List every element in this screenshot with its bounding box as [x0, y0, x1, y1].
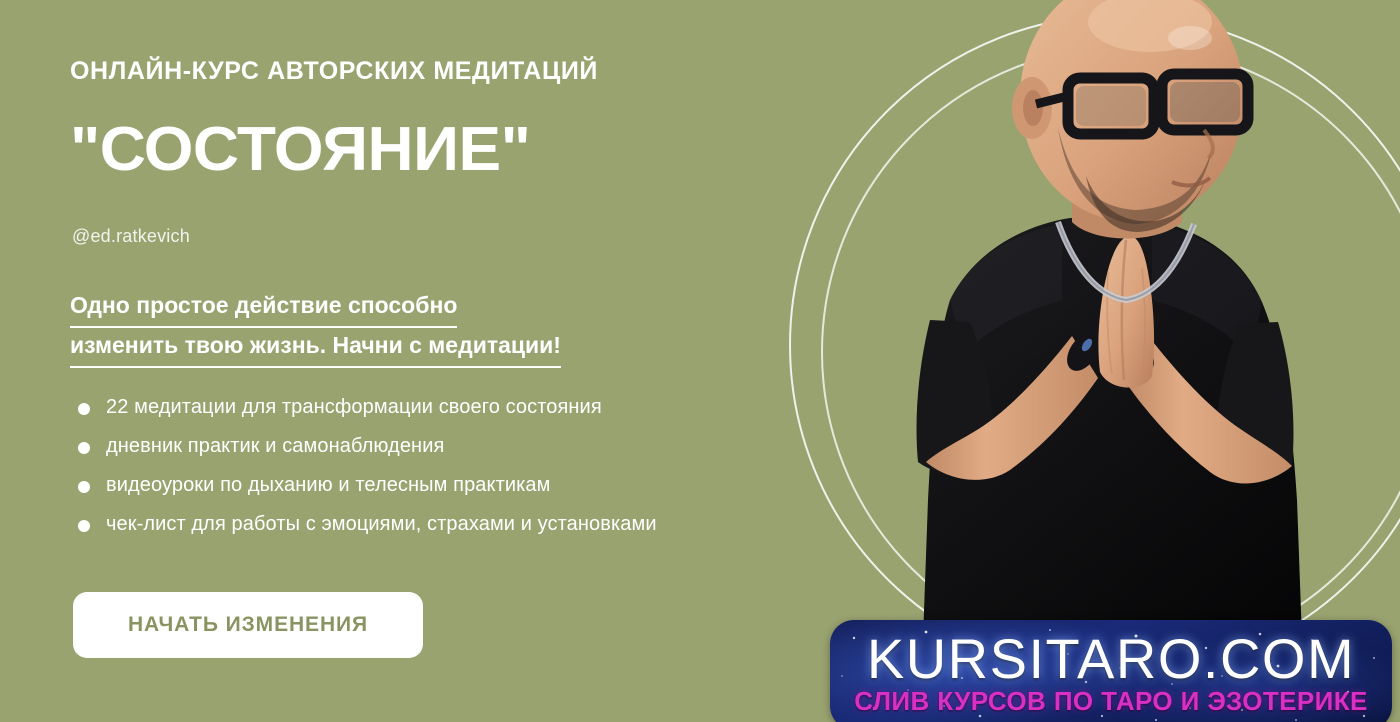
start-changes-button[interactable]: НАЧАТЬ ИЗМЕНЕНИЯ [73, 592, 423, 658]
list-item: 22 медитации для трансформации своего со… [74, 396, 657, 419]
watermark-domain: KURSITARO.COM [830, 626, 1392, 691]
list-item: дневник практик и самонаблюдения [74, 435, 657, 458]
list-item-label: 22 медитации для трансформации своего со… [106, 396, 602, 418]
list-item: чек-лист для работы с эмоциями, страхами… [74, 513, 657, 536]
bullet-dot-icon [78, 481, 90, 493]
text-column: ОНЛАЙН-КУРС АВТОРСКИХ МЕДИТАЦИЙ "СОСТОЯН… [70, 0, 790, 722]
list-item-label: чек-лист для работы с эмоциями, страхами… [106, 513, 657, 535]
bullet-dot-icon [78, 403, 90, 415]
subheadline-line-2: изменить твою жизнь. Начни с медитации! [70, 328, 561, 368]
feature-list: 22 медитации для трансформации своего со… [74, 396, 657, 552]
eyebrow-text: ОНЛАЙН-КУРС АВТОРСКИХ МЕДИТАЦИЙ [70, 57, 598, 86]
instructor-photo [800, 0, 1400, 722]
promo-banner: ОНЛАЙН-КУРС АВТОРСКИХ МЕДИТАЦИЙ "СОСТОЯН… [0, 0, 1400, 722]
list-item-label: видеоуроки по дыханию и телесным практик… [106, 474, 551, 496]
watermark-badge: KURSITARO.COM СЛИВ КУРСОВ ПО ТАРО И ЭЗОТ… [830, 620, 1392, 722]
watermark-tagline: СЛИВ КУРСОВ ПО ТАРО И ЭЗОТЕРИКЕ [830, 686, 1392, 717]
instagram-handle: @ed.ratkevich [72, 226, 190, 247]
bullet-dot-icon [78, 442, 90, 454]
list-item-label: дневник практик и самонаблюдения [106, 435, 444, 457]
subheadline: Одно простое действие способно изменить … [70, 288, 561, 368]
list-item: видеоуроки по дыханию и телесным практик… [74, 474, 657, 497]
bullet-dot-icon [78, 520, 90, 532]
page-title: "СОСТОЯНИЕ" [70, 119, 530, 181]
subheadline-line-1: Одно простое действие способно [70, 288, 457, 328]
